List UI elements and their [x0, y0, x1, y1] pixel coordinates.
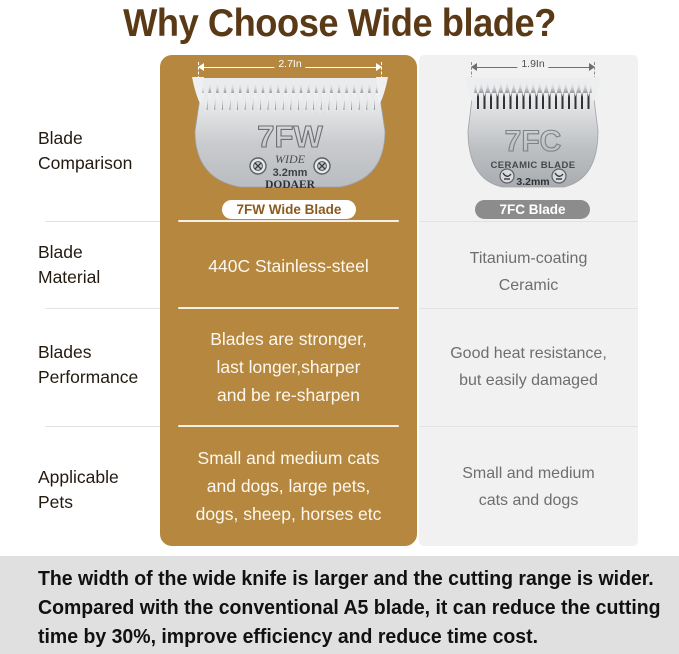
cell-wide-material: 440C Stainless-steel — [166, 252, 411, 280]
cell-text-line1: Small and medium — [419, 460, 638, 487]
row-separator-gray-1 — [419, 221, 638, 222]
ceramic-blade-screw-right — [552, 169, 566, 183]
badge-ceramic-blade: 7FC Blade — [475, 200, 590, 219]
row-label-line1: Applicable — [38, 465, 158, 490]
cell-text-line1: Good heat resistance, — [419, 340, 638, 367]
cell-text-line1: Blades are stronger, — [166, 325, 411, 353]
comparison-infographic: Why Choose Wide blade? Blade Comparison … — [0, 0, 679, 654]
wide-blade-graphic: 2.7In — [198, 60, 382, 200]
row-separator-gray-3 — [419, 426, 638, 427]
row-label-line1: Blade — [38, 126, 158, 151]
footer-band: The width of the wide knife is larger an… — [0, 556, 679, 654]
row-label-blades-performance: Blades Performance — [38, 340, 158, 390]
ceramic-blade-model-text: 7FC — [505, 125, 562, 158]
cell-wide-pets: Small and medium cats and dogs, large pe… — [166, 444, 411, 528]
cell-text-line3: and be re-sharpen — [166, 381, 411, 409]
cell-wide-performance: Blades are stronger, last longer,sharper… — [166, 325, 411, 409]
page-title: Why Choose Wide blade? — [24, 1, 655, 47]
cell-ceramic-pets: Small and medium cats and dogs — [419, 460, 638, 514]
wide-blade-screw-right — [314, 158, 330, 174]
wide-blade-screw-left — [250, 158, 266, 174]
footer-line1: The width of the wide knife is larger an… — [38, 564, 622, 593]
footer-text: The width of the wide knife is larger an… — [38, 564, 622, 651]
row-label-applicable-pets: Applicable Pets — [38, 465, 158, 515]
cell-text-line2: and dogs, large pets, — [166, 472, 411, 500]
row-separator-left-3 — [45, 426, 160, 427]
ceramic-blade-line1-text: CERAMIC BLADE — [491, 160, 576, 171]
row-separator-gray-2 — [419, 308, 638, 309]
cell-text-line2: Ceramic — [419, 272, 638, 299]
row-label-line2: Material — [38, 265, 158, 290]
footer-line2: Compared with the conventional A5 blade,… — [38, 593, 622, 622]
row-label-line1: Blade — [38, 240, 158, 265]
row-label-blade-comparison: Blade Comparison — [38, 126, 158, 176]
cell-text-line1: Small and medium cats — [166, 444, 411, 472]
wide-blade-brand-text: DODAER — [265, 179, 316, 191]
row-label-line2: Pets — [38, 490, 158, 515]
badge-wide-blade: 7FW Wide Blade — [222, 200, 356, 219]
row-label-blade-material: Blade Material — [38, 240, 158, 290]
wide-dimension-label: 2.7In — [274, 58, 305, 70]
row-label-line2: Comparison — [38, 151, 158, 176]
cell-text-line2: last longer,sharper — [166, 353, 411, 381]
row-separator-left-1 — [45, 221, 160, 222]
row-label-line1: Blades — [38, 340, 158, 365]
ceramic-dimension-label: 1.9In — [517, 58, 548, 70]
cell-ceramic-material: Titanium-coating Ceramic — [419, 245, 638, 299]
cell-text-line2: cats and dogs — [419, 487, 638, 514]
ceramic-blade-graphic: 1.9In — [471, 60, 595, 200]
ceramic-blade-line2-text: 3.2mm — [516, 176, 549, 188]
row-separator-brown-3 — [178, 425, 399, 427]
wide-blade-line2-text: 3.2mm — [273, 167, 308, 179]
ceramic-blade-svg: 7FC CERAMIC BLADE 3.2mm — [463, 75, 603, 200]
cell-text-line1: Titanium-coating — [419, 245, 638, 272]
row-label-line2: Performance — [38, 365, 158, 390]
wide-blade-svg: 7FW WIDE 3.2mm DODAER — [188, 75, 392, 200]
ceramic-blade-dimension: 1.9In — [471, 60, 595, 75]
footer-line3: time by 30%, improve efficiency and redu… — [38, 622, 622, 651]
wide-blade-model-text: 7FW — [257, 119, 323, 154]
cell-text: 440C Stainless-steel — [166, 252, 411, 280]
row-separator-left-2 — [45, 308, 160, 309]
wide-blade-dimension: 2.7In — [198, 60, 382, 75]
ceramic-blade-screw-left — [500, 169, 514, 183]
row-separator-brown-1 — [178, 220, 399, 222]
cell-text-line3: dogs, sheep, horses etc — [166, 500, 411, 528]
row-separator-brown-2 — [178, 307, 399, 309]
wide-blade-line1-text: WIDE — [275, 152, 306, 166]
cell-ceramic-performance: Good heat resistance, but easily damaged — [419, 340, 638, 394]
cell-text-line2: but easily damaged — [419, 367, 638, 394]
